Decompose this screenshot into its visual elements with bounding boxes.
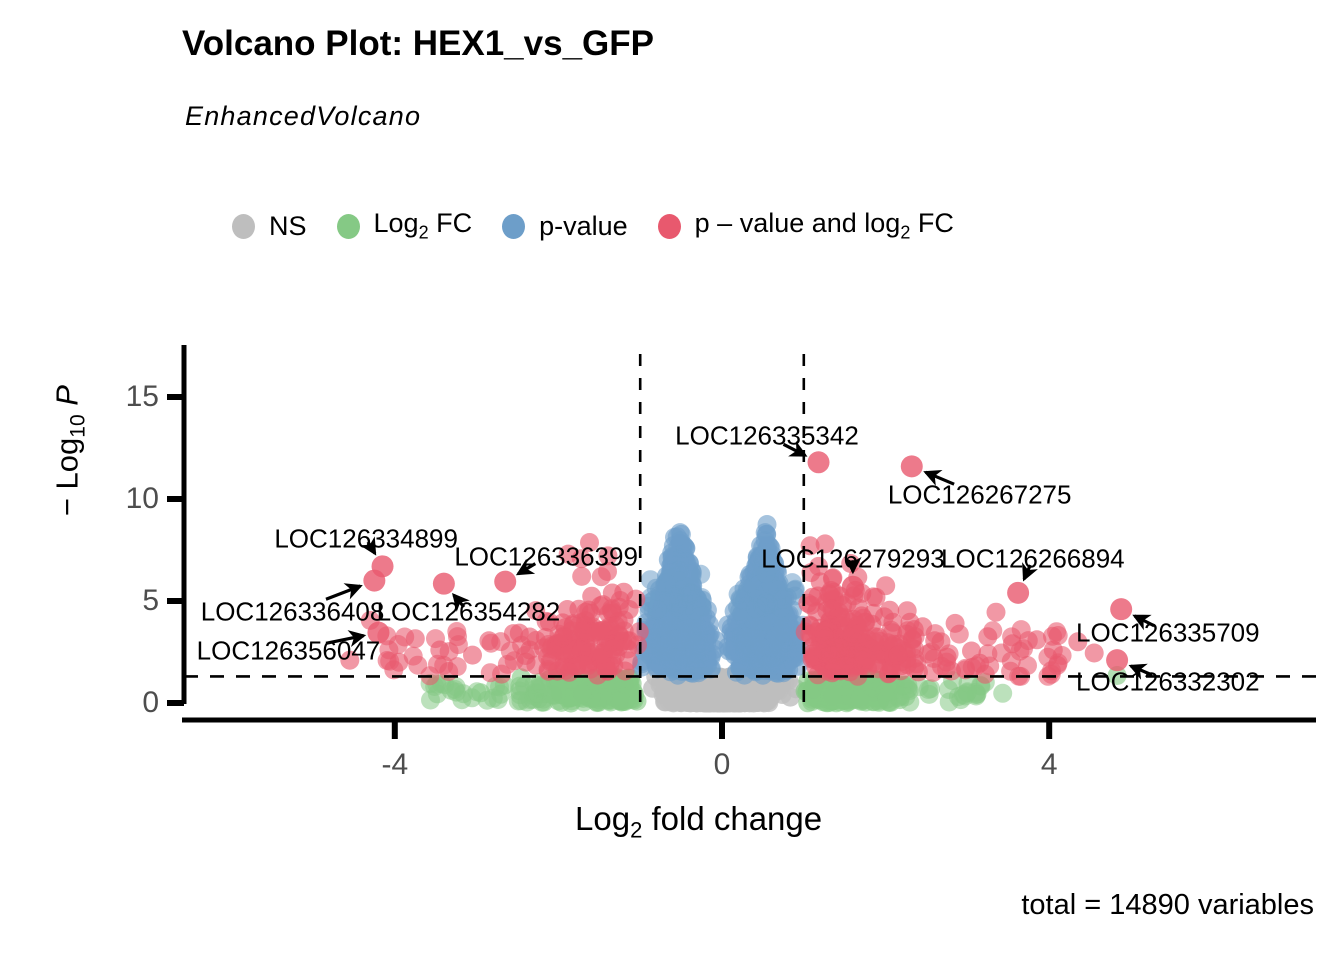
scatter-point [808,665,827,684]
gene-label[interactable]: LOC126354282 [377,597,561,628]
scatter-point [421,691,440,710]
scatter-point [448,627,467,646]
scatter-point [553,628,572,647]
scatter-point [767,590,786,609]
scatter-point [864,587,883,606]
y-tick-label: 10 [94,482,159,516]
scatter-point [668,527,687,546]
scatter-point [1027,630,1046,649]
labeled-data-point[interactable] [363,570,385,592]
scatter-point [569,600,588,619]
gene-label[interactable]: LOC126332302 [1076,666,1260,697]
scatter-point [881,621,900,640]
scatter-point [620,600,639,619]
scatter-point [958,682,977,701]
scatter-point [815,626,834,645]
scatter-point [389,653,408,672]
x-tick-label: 0 [692,748,752,782]
labeled-data-point[interactable] [901,455,923,477]
scatter-point [731,590,750,609]
gene-label[interactable]: LOC126267275 [888,479,1072,510]
scatter-point [1048,656,1067,675]
scatter-point [855,648,874,667]
scatter-point [876,683,895,702]
y-tick-label: 5 [94,584,159,618]
scatter-point [591,621,610,640]
scatter-point [905,620,924,639]
scatter-point [987,603,1006,622]
scatter-point [512,691,531,710]
scatter-point [471,683,490,702]
scatter-point [648,600,667,619]
gene-label[interactable]: LOC126335709 [1076,617,1260,648]
y-tick-label: 15 [94,380,159,414]
scatter-point [905,640,924,659]
gene-label[interactable]: LOC126279293 [761,544,945,575]
scatter-point [695,634,714,653]
scatter-point [406,629,425,648]
scatter-point [896,687,915,706]
scatter-point [663,646,682,665]
scatter-point [1003,634,1022,653]
scatter-point [736,628,755,647]
labeled-data-point[interactable] [494,571,516,593]
scatter-point [666,630,685,649]
gene-label[interactable]: LOC126334899 [274,523,458,554]
scatter-point [888,646,907,665]
scatter-point [628,636,647,655]
gene-label[interactable]: LOC126335342 [675,420,859,451]
gene-label[interactable]: LOC126356047 [197,635,381,666]
scatter-point [691,565,710,584]
scatter-point [731,645,750,664]
scatter-point [520,641,539,660]
scatter-point [880,601,899,620]
scatter-point [921,679,940,698]
labeled-data-point[interactable] [433,573,455,595]
scatter-point [528,684,547,703]
scatter-point [463,646,482,665]
x-tick-label: -4 [365,748,425,782]
scatter-point [430,641,449,660]
scatter-point [492,665,511,684]
scatter-point [448,657,467,676]
labeled-data-point[interactable] [1007,582,1029,604]
scatter-point [993,684,1012,703]
scatter-point [491,685,510,704]
scatter-point [643,679,662,698]
scatter-point [938,648,957,667]
scatter-point [668,598,687,617]
scatter-point [831,608,850,627]
scatter-point [925,631,944,650]
scatter-point [641,570,660,589]
scatter-point [604,640,623,659]
y-tick-label: 0 [94,686,159,720]
labeled-data-point[interactable] [808,451,830,473]
scatter-point [716,686,735,705]
scatter-point [574,655,593,674]
x-tick-label: 4 [1019,748,1079,782]
x-axis-title: Log2 fold change [575,800,822,844]
volcano-plot-figure: Volcano Plot: HEX1_vs_GFP EnhancedVolcan… [0,0,1344,960]
scatter-point [946,614,965,633]
scatter-point [783,573,802,592]
gene-label[interactable]: LOC126336408 [201,597,385,628]
gene-label[interactable]: LOC126266894 [941,544,1125,575]
scatter-point [454,684,473,703]
scatter-point [615,621,634,640]
gene-label[interactable]: LOC126336399 [454,542,638,573]
scatter-point [843,624,862,643]
scatter-point [830,638,849,657]
total-variables-caption: total = 14890 variables [1021,889,1314,922]
scatter-point [684,691,703,710]
scatter-point [978,627,997,646]
scatter-point [758,515,777,534]
scatter-point [970,654,989,673]
scatter-point [611,686,630,705]
scatter-point [776,624,795,643]
scatter-point [823,687,842,706]
scatter-point [479,631,498,650]
scatter-point [588,693,607,712]
y-axis-title: − Log10 P [49,341,90,561]
labeled-data-point[interactable] [842,576,864,598]
